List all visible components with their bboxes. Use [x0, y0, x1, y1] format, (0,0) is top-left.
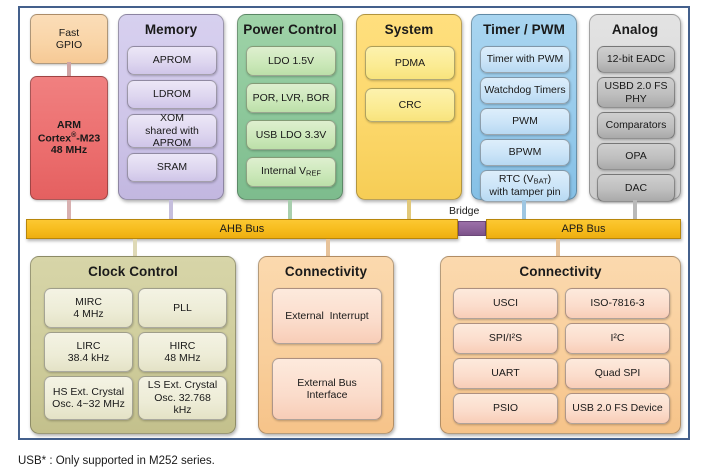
block-external-bus-interface-label: External BusInterface [297, 377, 357, 402]
column-clock-control: Clock Control MIRC4 MHz PLL LIRC38.4 kHz… [30, 256, 236, 434]
block-hirc-label: HIRC48 MHz [164, 340, 200, 365]
footnote: USB* : Only supported in M252 series. [18, 455, 215, 467]
bus-bridge [458, 221, 486, 236]
block-fast-gpio: FastGPIO [30, 14, 108, 64]
block-diagram-canvas: FastGPIO ARMCortex®-M2348 MHz Memory APR… [0, 0, 712, 476]
block-por-lvr-bor-label: POR, LVR, BOR [253, 92, 330, 104]
block-iso-7816-3-label: ISO-7816-3 [590, 297, 644, 309]
column-analog: Analog 12-bit EADC USBD 2.0 FSPHY Compar… [589, 14, 681, 200]
column-connectivity-apb: Connectivity USCI ISO-7816-3 SPI/I²S I²C… [440, 256, 681, 434]
block-eadc-label: 12-bit EADC [607, 53, 665, 65]
ahb-bus: AHB Bus [26, 219, 458, 239]
block-watchdog-timers: Watchdog Timers [480, 77, 570, 104]
block-usci-label: USCI [493, 297, 518, 309]
block-xom: XOMshared with APROM [127, 114, 217, 148]
block-pwm: PWM [480, 108, 570, 135]
block-pll: PLL [138, 288, 227, 328]
column-connectivity-ahb: Connectivity External Interrupt External… [258, 256, 394, 434]
block-comparators: Comparators [597, 112, 675, 139]
ahb-bus-label: AHB Bus [220, 223, 265, 235]
block-fast-gpio-label: FastGPIO [56, 27, 82, 52]
bus-bridge-label: Bridge [449, 205, 479, 217]
block-opa: OPA [597, 143, 675, 170]
block-rtc-label: RTC (VBAT)with tamper pin [489, 173, 560, 199]
block-sram: SRAM [127, 153, 217, 182]
stem-core-to-ahb [67, 200, 71, 219]
block-uart: UART [453, 358, 558, 389]
stem-memory-to-ahb [169, 200, 173, 219]
block-hirc: HIRC48 MHz [138, 332, 227, 372]
block-dac: DAC [597, 174, 675, 202]
block-uart-label: UART [491, 367, 519, 379]
block-mirc: MIRC4 MHz [44, 288, 133, 328]
block-lirc: LIRC38.4 kHz [44, 332, 133, 372]
block-internal-vref-label: Internal VREF [261, 165, 321, 178]
stem-analog-to-apb [633, 200, 637, 219]
block-crc: CRC [365, 88, 455, 122]
block-iso-7816-3: ISO-7816-3 [565, 288, 670, 319]
block-i2c: I²C [565, 323, 670, 354]
apb-bus-label: APB Bus [561, 223, 605, 235]
stem-system-to-ahb [407, 200, 411, 219]
block-usb-device-label: USB 2.0 FS Device [572, 402, 662, 414]
block-watchdog-timers-label: Watchdog Timers [484, 84, 565, 96]
apb-bus: APB Bus [486, 219, 681, 239]
stem-ahb-to-connectivity [326, 239, 330, 256]
block-hs-ext-crystal-label: HS Ext. CrystalOsc. 4~32 MHz [52, 386, 125, 411]
block-hs-ext-crystal: HS Ext. CrystalOsc. 4~32 MHz [44, 376, 133, 420]
block-usb-device: USB 2.0 FS Device [565, 393, 670, 424]
block-comparators-label: Comparators [606, 119, 667, 131]
block-spi-i2s-label: SPI/I²S [489, 332, 522, 344]
block-external-interrupt-label: External Interrupt [285, 310, 368, 322]
block-eadc: 12-bit EADC [597, 46, 675, 73]
block-lirc-label: LIRC38.4 kHz [68, 340, 109, 365]
block-ls-ext-crystal: LS Ext. CrystalOsc. 32.768kHz [138, 376, 227, 420]
block-usbd-phy: USBD 2.0 FSPHY [597, 77, 675, 108]
block-arm-core-label: ARMCortex®-M2348 MHz [38, 119, 100, 157]
block-aprom: APROM [127, 46, 217, 75]
block-ls-ext-crystal-label: LS Ext. CrystalOsc. 32.768kHz [148, 379, 217, 416]
block-ldrom: LDROM [127, 80, 217, 109]
block-sram-label: SRAM [157, 161, 187, 173]
block-aprom-label: APROM [153, 54, 192, 66]
block-usci: USCI [453, 288, 558, 319]
column-system-title: System [357, 22, 461, 37]
block-ldrom-label: LDROM [153, 88, 191, 100]
column-timer-pwm-title: Timer / PWM [472, 22, 576, 37]
column-memory-title: Memory [119, 22, 223, 37]
block-opa-label: OPA [625, 150, 646, 162]
column-power-control-title: Power Control [238, 22, 342, 37]
block-timer-with-pwm: Timer with PWM [480, 46, 570, 73]
block-quad-spi-label: Quad SPI [595, 367, 641, 379]
stem-power-to-ahb [288, 200, 292, 219]
block-pdma-label: PDMA [395, 57, 425, 69]
block-usbd-phy-label: USBD 2.0 FSPHY [604, 80, 667, 105]
column-memory: Memory APROM LDROM XOMshared with APROM … [118, 14, 224, 200]
stem-ahb-to-clock [133, 239, 137, 256]
block-spi-i2s: SPI/I²S [453, 323, 558, 354]
stem-apb-to-connectivity [556, 239, 560, 256]
column-analog-title: Analog [590, 22, 680, 37]
block-timer-with-pwm-label: Timer with PWM [487, 53, 564, 65]
block-mirc-label: MIRC4 MHz [73, 296, 103, 321]
column-power-control: Power Control LDO 1.5V POR, LVR, BOR USB… [237, 14, 343, 200]
block-dac-label: DAC [625, 182, 647, 194]
block-bpwm: BPWM [480, 139, 570, 166]
block-quad-spi: Quad SPI [565, 358, 670, 389]
block-ldo-15v-label: LDO 1.5V [268, 55, 314, 67]
block-psio: PSIO [453, 393, 558, 424]
block-xom-label: XOMshared with APROM [130, 112, 214, 149]
block-bpwm-label: BPWM [509, 146, 542, 158]
block-arm-core: ARMCortex®-M2348 MHz [30, 76, 108, 200]
block-pwm-label: PWM [512, 115, 538, 127]
column-clock-control-title: Clock Control [31, 264, 235, 279]
block-rtc: RTC (VBAT)with tamper pin [480, 170, 570, 202]
block-internal-vref: Internal VREF [246, 157, 336, 187]
block-usb-ldo-33v-label: USB LDO 3.3V [256, 129, 327, 141]
column-connectivity-ahb-title: Connectivity [259, 264, 393, 279]
block-pdma: PDMA [365, 46, 455, 80]
block-por-lvr-bor: POR, LVR, BOR [246, 83, 336, 113]
block-psio-label: PSIO [493, 402, 518, 414]
block-external-bus-interface: External BusInterface [272, 358, 382, 420]
block-ldo-15v: LDO 1.5V [246, 46, 336, 76]
block-usb-ldo-33v: USB LDO 3.3V [246, 120, 336, 150]
column-connectivity-apb-title: Connectivity [441, 264, 680, 279]
column-timer-pwm: Timer / PWM Timer with PWM Watchdog Time… [471, 14, 577, 200]
block-crc-label: CRC [399, 99, 422, 111]
block-external-interrupt: External Interrupt [272, 288, 382, 344]
stem-timer-to-apb [522, 200, 526, 219]
block-i2c-label: I²C [611, 332, 625, 344]
column-system: System PDMA CRC [356, 14, 462, 200]
block-pll-label: PLL [173, 302, 192, 314]
